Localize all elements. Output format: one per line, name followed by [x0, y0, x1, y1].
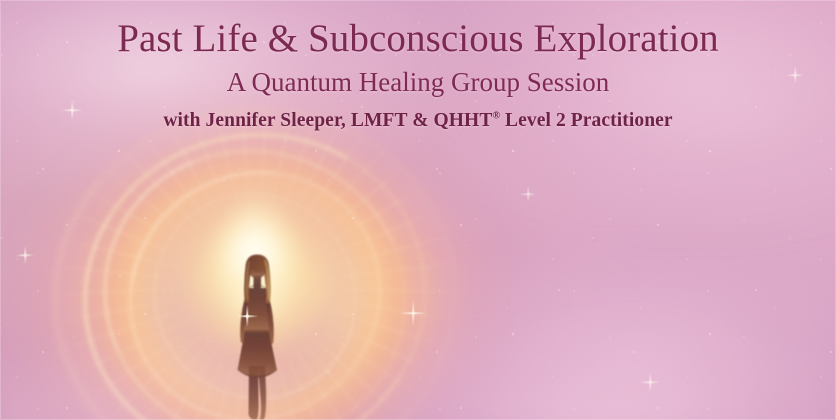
poster-canvas: Past Life & Subconscious Exploration A Q…	[0, 0, 836, 420]
presenter-name-credentials: with Jennifer Sleeper, LMFT & QHHT	[163, 110, 492, 131]
headline-block: Past Life & Subconscious Exploration A Q…	[0, 18, 836, 132]
figure-shape	[196, 238, 316, 420]
walking-woman-silhouette	[196, 238, 316, 420]
presenter-level: Level 2 Practitioner	[500, 110, 673, 131]
presenter-line: with Jennifer Sleeper, LMFT & QHHT® Leve…	[0, 110, 836, 132]
page-title: Past Life & Subconscious Exploration	[0, 18, 836, 59]
registered-trademark-icon: ®	[492, 111, 500, 122]
page-subtitle: A Quantum Healing Group Session	[0, 68, 836, 98]
